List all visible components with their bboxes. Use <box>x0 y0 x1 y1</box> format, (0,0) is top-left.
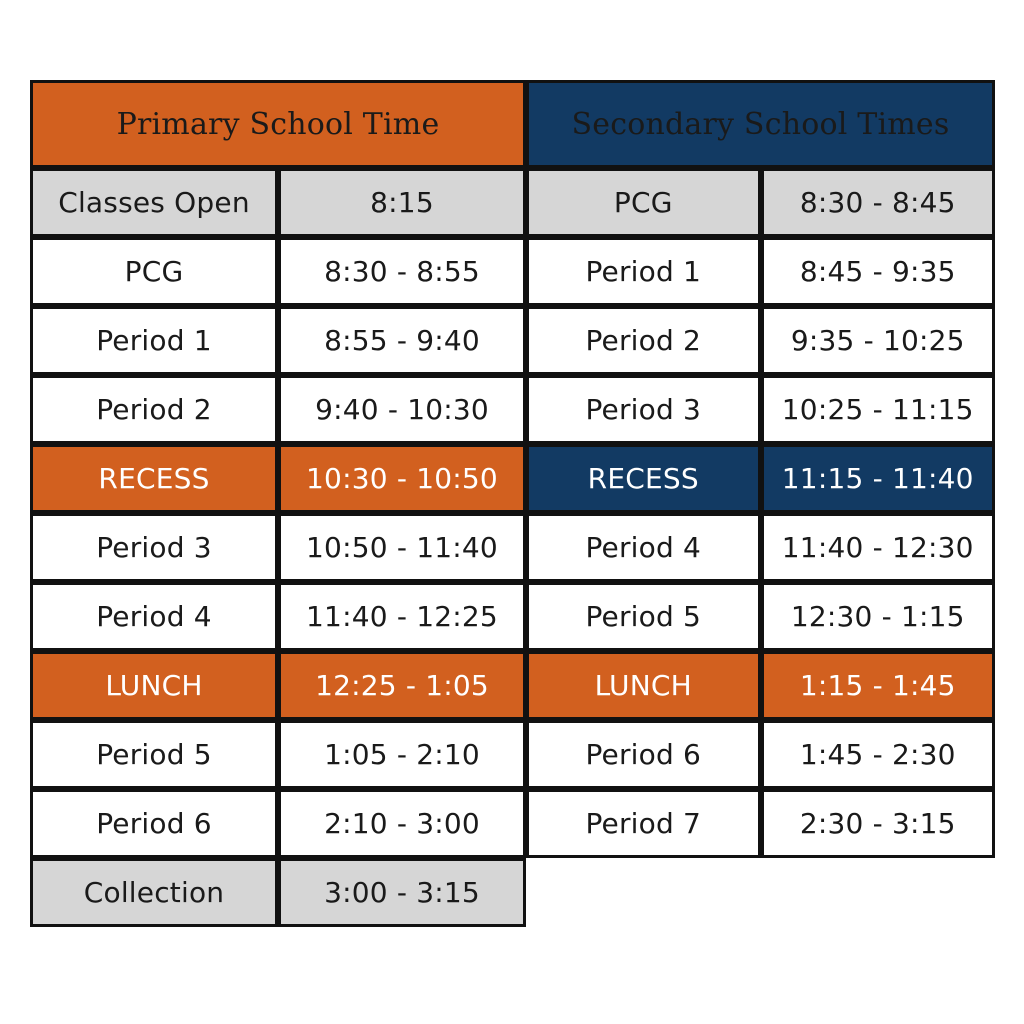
secondary-school-timetable: Secondary School Times PCG8:30 - 8:45Per… <box>526 80 995 858</box>
period-label-cell: Period 6 <box>30 789 278 858</box>
table-row: Period 29:35 - 10:25 <box>526 306 995 375</box>
table-row: Period 18:45 - 9:35 <box>526 237 995 306</box>
period-label-cell: Period 5 <box>526 582 761 651</box>
period-time-cell: 10:25 - 11:15 <box>761 375 996 444</box>
secondary-table-body: PCG8:30 - 8:45Period 18:45 - 9:35Period … <box>526 168 995 858</box>
primary-school-timetable: Primary School Time Classes Open8:15PCG8… <box>30 80 526 927</box>
table-row: LUNCH1:15 - 1:45 <box>526 651 995 720</box>
period-time-cell: 12:25 - 1:05 <box>278 651 526 720</box>
period-label-cell: Period 1 <box>526 237 761 306</box>
period-time-cell: 8:45 - 9:35 <box>761 237 996 306</box>
table-row: Period 411:40 - 12:30 <box>526 513 995 582</box>
period-time-cell: 11:40 - 12:25 <box>278 582 526 651</box>
period-time-cell: 8:55 - 9:40 <box>278 306 526 375</box>
table-row: Collection3:00 - 3:15 <box>30 858 526 927</box>
period-label-cell: Collection <box>30 858 278 927</box>
period-label-cell: LUNCH <box>30 651 278 720</box>
table-row: RECESS10:30 - 10:50 <box>30 444 526 513</box>
period-label-cell: Period 1 <box>30 306 278 375</box>
secondary-table-header: Secondary School Times <box>526 80 995 168</box>
primary-header-title: Primary School Time <box>30 80 526 168</box>
table-row: Classes Open8:15 <box>30 168 526 237</box>
period-label-cell: Period 5 <box>30 720 278 789</box>
table-row: RECESS11:15 - 11:40 <box>526 444 995 513</box>
period-label-cell: RECESS <box>30 444 278 513</box>
period-time-cell: 3:00 - 3:15 <box>278 858 526 927</box>
period-label-cell: LUNCH <box>526 651 761 720</box>
period-time-cell: 10:50 - 11:40 <box>278 513 526 582</box>
table-row: Period 310:25 - 11:15 <box>526 375 995 444</box>
period-label-cell: Period 2 <box>526 306 761 375</box>
table-row: Period 29:40 - 10:30 <box>30 375 526 444</box>
period-time-cell: 1:15 - 1:45 <box>761 651 996 720</box>
period-time-cell: 1:45 - 2:30 <box>761 720 996 789</box>
table-row: Period 411:40 - 12:25 <box>30 582 526 651</box>
period-time-cell: 8:30 - 8:45 <box>761 168 996 237</box>
period-time-cell: 11:40 - 12:30 <box>761 513 996 582</box>
period-time-cell: 8:15 <box>278 168 526 237</box>
table-row: Period 72:30 - 3:15 <box>526 789 995 858</box>
period-time-cell: 2:10 - 3:00 <box>278 789 526 858</box>
period-label-cell: Period 3 <box>526 375 761 444</box>
table-row: Period 18:55 - 9:40 <box>30 306 526 375</box>
period-label-cell: Period 2 <box>30 375 278 444</box>
table-row: Period 310:50 - 11:40 <box>30 513 526 582</box>
period-time-cell: 1:05 - 2:10 <box>278 720 526 789</box>
table-row: Period 62:10 - 3:00 <box>30 789 526 858</box>
period-label-cell: Period 4 <box>30 582 278 651</box>
period-time-cell: 9:35 - 10:25 <box>761 306 996 375</box>
primary-header-row: Primary School Time <box>30 80 526 168</box>
primary-table-body: Classes Open8:15PCG8:30 - 8:55Period 18:… <box>30 168 526 927</box>
period-label-cell: PCG <box>30 237 278 306</box>
period-label-cell: Period 3 <box>30 513 278 582</box>
period-time-cell: 12:30 - 1:15 <box>761 582 996 651</box>
table-row: PCG8:30 - 8:55 <box>30 237 526 306</box>
table-row: Period 512:30 - 1:15 <box>526 582 995 651</box>
period-label-cell: Period 4 <box>526 513 761 582</box>
secondary-header-row: Secondary School Times <box>526 80 995 168</box>
period-label-cell: Classes Open <box>30 168 278 237</box>
period-time-cell: 10:30 - 10:50 <box>278 444 526 513</box>
table-row: Period 61:45 - 2:30 <box>526 720 995 789</box>
schedule-page: Primary School Time Classes Open8:15PCG8… <box>0 0 1024 1024</box>
period-time-cell: 9:40 - 10:30 <box>278 375 526 444</box>
period-time-cell: 8:30 - 8:55 <box>278 237 526 306</box>
period-time-cell: 11:15 - 11:40 <box>761 444 996 513</box>
secondary-header-title: Secondary School Times <box>526 80 995 168</box>
table-row: PCG8:30 - 8:45 <box>526 168 995 237</box>
period-label-cell: Period 6 <box>526 720 761 789</box>
period-label-cell: RECESS <box>526 444 761 513</box>
period-label-cell: Period 7 <box>526 789 761 858</box>
primary-table-header: Primary School Time <box>30 80 526 168</box>
table-row: LUNCH12:25 - 1:05 <box>30 651 526 720</box>
period-label-cell: PCG <box>526 168 761 237</box>
period-time-cell: 2:30 - 3:15 <box>761 789 996 858</box>
table-row: Period 51:05 - 2:10 <box>30 720 526 789</box>
